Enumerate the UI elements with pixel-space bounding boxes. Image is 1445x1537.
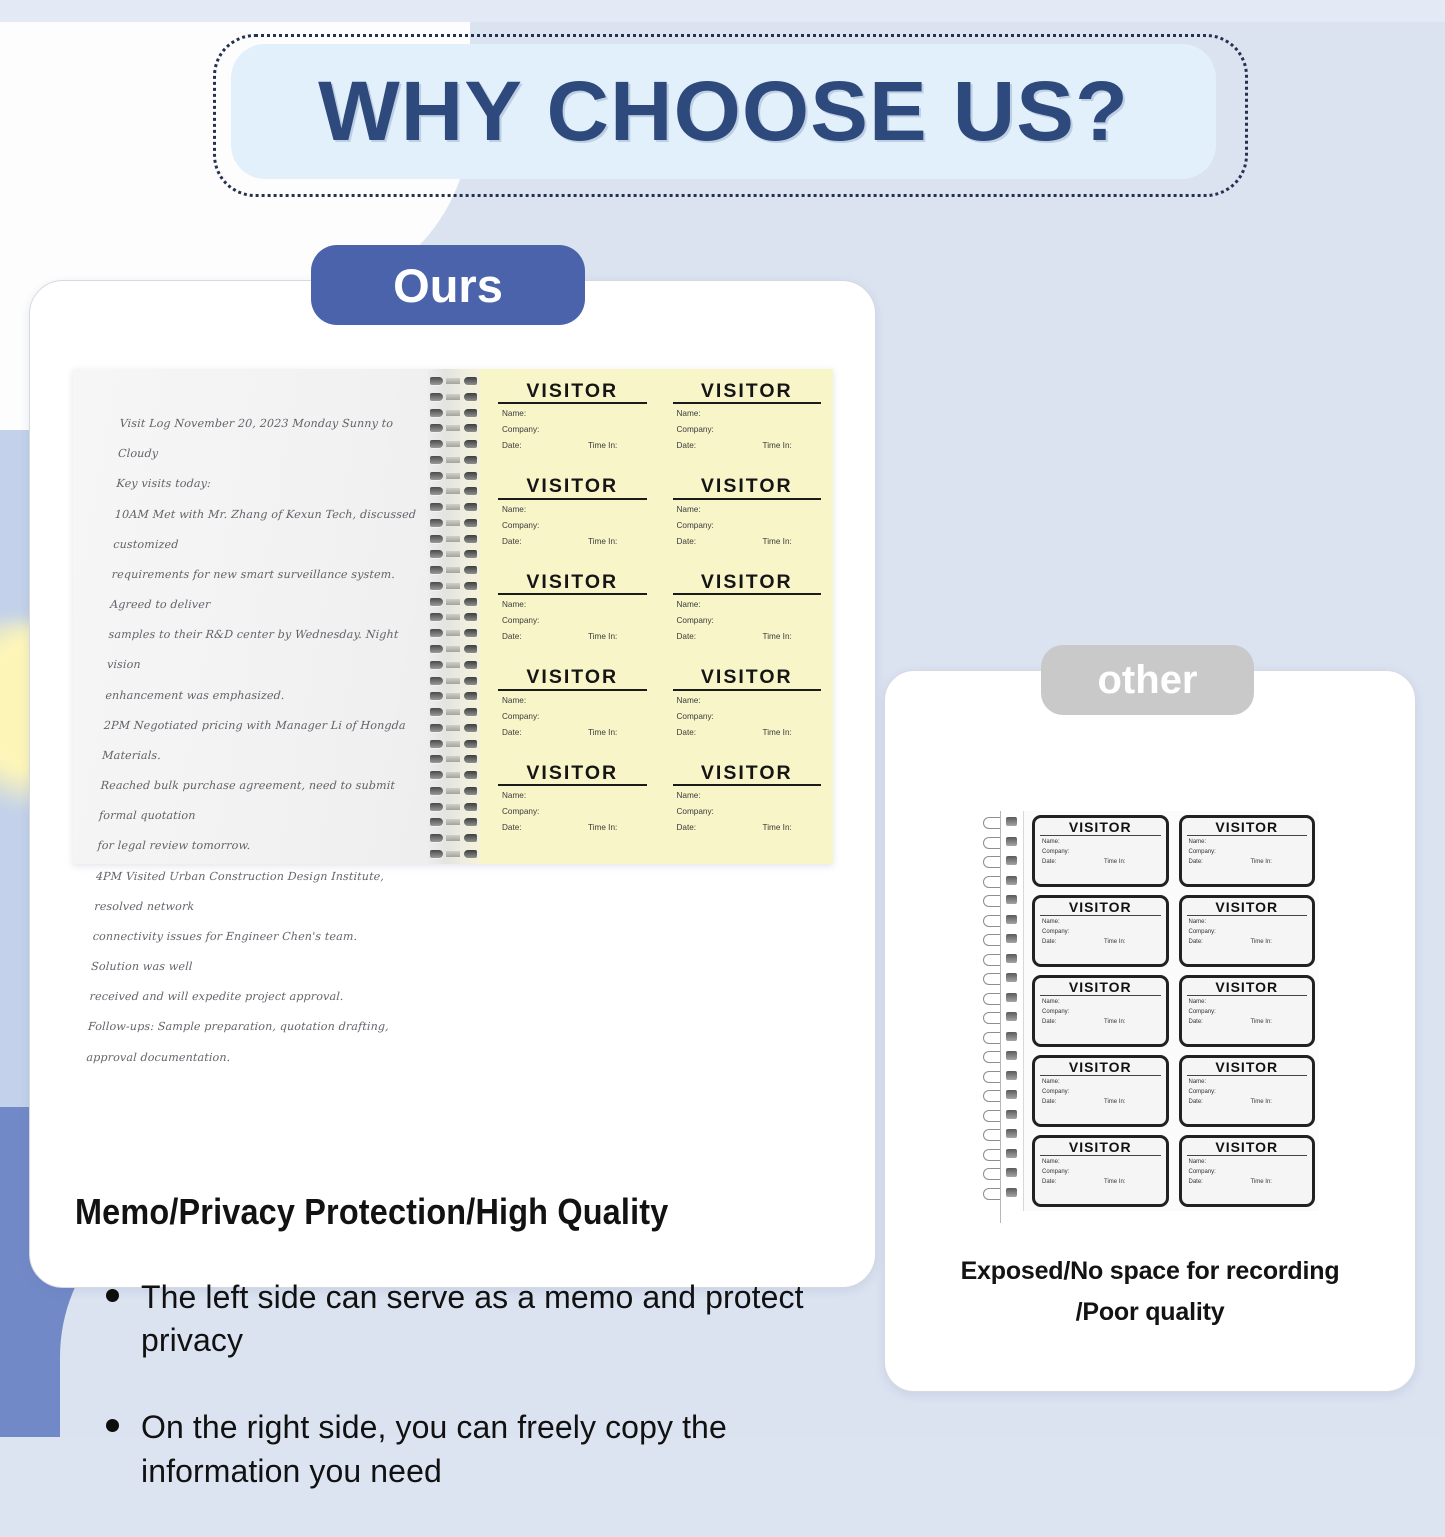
visitor-pass-company-field: Company: bbox=[677, 712, 824, 721]
visitor-pass-title: VISITOR bbox=[1040, 1140, 1161, 1155]
visitor-pass: VISITORName:Company:Date:Time In: bbox=[492, 474, 653, 569]
visitor-pass-title: VISITOR bbox=[1187, 1140, 1308, 1155]
visitor-pass-company-field: Company: bbox=[1042, 1089, 1161, 1095]
spiral-ring bbox=[428, 787, 480, 795]
visitor-pass-date-time-field: Date:Time In: bbox=[1189, 1179, 1308, 1185]
visitor-pass-rule bbox=[498, 402, 647, 404]
visitor-pass: VISITORName:Company:Date:Time In: bbox=[1179, 1055, 1316, 1127]
visitor-pass-rule bbox=[498, 689, 647, 691]
spiral-ring bbox=[428, 803, 480, 811]
visitor-pass-name-field: Name: bbox=[502, 409, 649, 418]
visitor-pass: VISITORName:Company:Date:Time In: bbox=[1032, 1135, 1169, 1207]
notebook-visitor-pass-page: VISITORName:Company:Date:Time In:VISITOR… bbox=[480, 369, 833, 864]
visitor-pass-date-time-field: Date:Time In: bbox=[677, 441, 824, 450]
notebook-spiral-binding bbox=[428, 369, 480, 864]
spiral-ring bbox=[428, 550, 480, 558]
ours-badge: Ours bbox=[311, 245, 585, 325]
visitor-pass: VISITORName:Company:Date:Time In: bbox=[667, 474, 828, 569]
memo-line: 2PM Negotiated pricing with Manager Li o… bbox=[101, 711, 417, 771]
visitor-pass-company-field: Company: bbox=[502, 425, 649, 434]
spiral-ring bbox=[428, 629, 480, 637]
visitor-pass-date-time-field: Date:Time In: bbox=[1189, 1019, 1308, 1025]
visitor-pass: VISITORName:Company:Date:Time In: bbox=[1179, 895, 1316, 967]
visitor-pass-date-time-field: Date:Time In: bbox=[1189, 939, 1308, 945]
spiral-ring bbox=[428, 677, 480, 685]
spiral-ring bbox=[428, 503, 480, 511]
bullet-dot-icon bbox=[106, 1289, 119, 1302]
visitor-pass-date-time-field: Date:Time In: bbox=[677, 632, 824, 641]
other-caption-line-2: /Poor quality bbox=[885, 1292, 1415, 1333]
memo-line: samples to their R&D center by Wednesday… bbox=[106, 620, 422, 680]
spiral-ring bbox=[428, 409, 480, 417]
visitor-pass: VISITORName:Company:Date:Time In: bbox=[1032, 975, 1169, 1047]
spiral-ring bbox=[428, 834, 480, 842]
visitor-pass-date-time-field: Date:Time In: bbox=[502, 537, 649, 546]
spiral-ring bbox=[428, 755, 480, 763]
other-card: VISITORName:Company:Date:Time In:VISITOR… bbox=[884, 670, 1416, 1392]
visitor-pass-title: VISITOR bbox=[671, 667, 824, 687]
visitor-pass-name-field: Name: bbox=[677, 505, 824, 514]
spiral-ring bbox=[428, 692, 480, 700]
memo-line: Visit Log November 20, 2023 Monday Sunny… bbox=[117, 409, 433, 469]
visitor-pass-rule bbox=[498, 784, 647, 786]
visitor-pass-name-field: Name: bbox=[677, 600, 824, 609]
visitor-pass-date-time-field: Date:Time In: bbox=[502, 823, 649, 832]
ours-notebook-image: Visit Log November 20, 2023 Monday Sunny… bbox=[73, 369, 833, 864]
visitor-pass-date-time-field: Date:Time In: bbox=[1042, 939, 1161, 945]
visitor-pass-name-field: Name: bbox=[1189, 1079, 1308, 1085]
visitor-pass-title: VISITOR bbox=[1187, 820, 1308, 835]
visitor-pass-date-time-field: Date:Time In: bbox=[502, 632, 649, 641]
visitor-pass-date-time-field: Date:Time In: bbox=[1189, 859, 1308, 865]
visitor-pass-name-field: Name: bbox=[502, 600, 649, 609]
spiral-ring bbox=[428, 377, 480, 385]
visitor-pass-company-field: Company: bbox=[502, 712, 649, 721]
memo-line: Reached bulk purchase agreement, need to… bbox=[98, 771, 414, 831]
visitor-pass-title: VISITOR bbox=[671, 763, 824, 783]
visitor-pass-name-field: Name: bbox=[677, 409, 824, 418]
spiral-ring bbox=[428, 472, 480, 480]
memo-line: Key visits today: bbox=[116, 469, 431, 499]
visitor-pass-company-field: Company: bbox=[502, 616, 649, 625]
visitor-pass-title: VISITOR bbox=[1187, 980, 1308, 995]
visitor-pass-rule bbox=[498, 498, 647, 500]
visitor-pass: VISITORName:Company:Date:Time In: bbox=[492, 570, 653, 665]
visitor-pass-company-field: Company: bbox=[1189, 1169, 1308, 1175]
visitor-pass-title: VISITOR bbox=[671, 572, 824, 592]
memo-line: Follow-ups: Sample preparation, quotatio… bbox=[87, 1012, 402, 1042]
visitor-pass-name-field: Name: bbox=[502, 791, 649, 800]
visitor-pass-date-time-field: Date:Time In: bbox=[1042, 1099, 1161, 1105]
bullet-dot-icon bbox=[106, 1419, 119, 1432]
visitor-pass-company-field: Company: bbox=[1189, 1089, 1308, 1095]
list-item: On the right side, you can freely copy t… bbox=[80, 1406, 840, 1492]
visitor-pass-title: VISITOR bbox=[1187, 900, 1308, 915]
visitor-pass-title: VISITOR bbox=[1040, 1060, 1161, 1075]
visitor-pass-name-field: Name: bbox=[677, 696, 824, 705]
visitor-pass-date-time-field: Date:Time In: bbox=[502, 728, 649, 737]
visitor-pass-date-time-field: Date:Time In: bbox=[1189, 1099, 1308, 1105]
visitor-pass-name-field: Name: bbox=[502, 505, 649, 514]
visitor-pass-title: VISITOR bbox=[496, 572, 649, 592]
visitor-pass-company-field: Company: bbox=[502, 521, 649, 530]
visitor-pass-date-time-field: Date:Time In: bbox=[677, 728, 824, 737]
memo-line: requirements for new smart surveillance … bbox=[109, 560, 425, 620]
visitor-pass-name-field: Name: bbox=[677, 791, 824, 800]
spiral-ring bbox=[428, 613, 480, 621]
visitor-pass-title: VISITOR bbox=[496, 667, 649, 687]
visitor-pass-company-field: Company: bbox=[1189, 849, 1308, 855]
notebook-memo-page: Visit Log November 20, 2023 Monday Sunny… bbox=[73, 369, 428, 864]
visitor-pass-company-field: Company: bbox=[1189, 929, 1308, 935]
visitor-pass-company-field: Company: bbox=[1042, 849, 1161, 855]
spiral-ring bbox=[428, 740, 480, 748]
spiral-ring bbox=[428, 535, 480, 543]
visitor-pass: VISITORName:Company:Date:Time In: bbox=[1179, 815, 1316, 887]
visitor-pass-date-time-field: Date:Time In: bbox=[677, 823, 824, 832]
background-top-strip bbox=[0, 0, 1445, 22]
visitor-pass-date-time-field: Date:Time In: bbox=[677, 537, 824, 546]
visitor-pass-title: VISITOR bbox=[496, 381, 649, 401]
page-title: WHY CHOOSE US? bbox=[216, 44, 1231, 179]
visitor-pass-name-field: Name: bbox=[1189, 1159, 1308, 1165]
visitor-pass-name-field: Name: bbox=[1189, 919, 1308, 925]
visitor-pass-company-field: Company: bbox=[677, 616, 824, 625]
visitor-pass-company-field: Company: bbox=[1042, 1169, 1161, 1175]
visitor-pass-title: VISITOR bbox=[1040, 820, 1161, 835]
other-caption-line-1: Exposed/No space for recording bbox=[885, 1251, 1415, 1292]
memo-line: for legal review tomorrow. bbox=[97, 831, 412, 861]
visitor-pass: VISITORName:Company:Date:Time In: bbox=[1179, 975, 1316, 1047]
visitor-pass: VISITORName:Company:Date:Time In: bbox=[667, 665, 828, 760]
spiral-ring bbox=[428, 708, 480, 716]
visitor-pass-name-field: Name: bbox=[1042, 1159, 1161, 1165]
visitor-pass-rule bbox=[673, 689, 822, 691]
visitor-pass: VISITORName:Company:Date:Time In: bbox=[1179, 1135, 1316, 1207]
visitor-pass-rule bbox=[673, 402, 822, 404]
memo-line: received and will expedite project appro… bbox=[89, 982, 404, 1012]
ours-feature-title: Memo/Privacy Protection/High Quality bbox=[75, 1191, 668, 1233]
spiral-ring bbox=[428, 566, 480, 574]
other-visitor-pass-page: VISITORName:Company:Date:Time In:VISITOR… bbox=[1023, 811, 1319, 1211]
visitor-pass: VISITORName:Company:Date:Time In: bbox=[492, 379, 653, 474]
spiral-ring bbox=[428, 582, 480, 590]
visitor-pass-title: VISITOR bbox=[1040, 900, 1161, 915]
memo-line: 4PM Visited Urban Construction Design In… bbox=[94, 862, 410, 922]
spiral-ring bbox=[428, 487, 480, 495]
visitor-pass-date-time-field: Date:Time In: bbox=[1042, 1179, 1161, 1185]
spiral-ring bbox=[428, 393, 480, 401]
visitor-pass-company-field: Company: bbox=[677, 521, 824, 530]
visitor-pass-date-time-field: Date:Time In: bbox=[502, 441, 649, 450]
visitor-pass-name-field: Name: bbox=[1042, 999, 1161, 1005]
visitor-pass-company-field: Company: bbox=[1042, 1009, 1161, 1015]
memo-handwriting: Visit Log November 20, 2023 Monday Sunny… bbox=[86, 409, 434, 1073]
visitor-pass-name-field: Name: bbox=[1042, 919, 1161, 925]
spiral-ring bbox=[428, 661, 480, 669]
visitor-pass-title: VISITOR bbox=[1040, 980, 1161, 995]
visitor-pass: VISITORName:Company:Date:Time In: bbox=[1032, 1055, 1169, 1127]
visitor-pass-date-time-field: Date:Time In: bbox=[1042, 1019, 1161, 1025]
visitor-pass: VISITORName:Company:Date:Time In: bbox=[667, 379, 828, 474]
spiral-ring bbox=[428, 424, 480, 432]
spiral-ring bbox=[428, 818, 480, 826]
spiral-ring bbox=[428, 456, 480, 464]
visitor-pass-title: VISITOR bbox=[1187, 1060, 1308, 1075]
visitor-pass: VISITORName:Company:Date:Time In: bbox=[1032, 815, 1169, 887]
other-spiral-binding bbox=[979, 811, 1023, 1211]
visitor-pass-company-field: Company: bbox=[1042, 929, 1161, 935]
bullet-text: The left side can serve as a memo and pr… bbox=[141, 1276, 840, 1362]
visitor-pass-name-field: Name: bbox=[502, 696, 649, 705]
memo-line: approval documentation. bbox=[86, 1043, 401, 1073]
visitor-pass-title: VISITOR bbox=[671, 381, 824, 401]
page-title-banner: WHY CHOOSE US? bbox=[213, 34, 1248, 197]
list-item: The left side can serve as a memo and pr… bbox=[80, 1276, 840, 1362]
visitor-pass-name-field: Name: bbox=[1189, 839, 1308, 845]
visitor-pass-company-field: Company: bbox=[677, 807, 824, 816]
spiral-ring bbox=[428, 519, 480, 527]
visitor-pass: VISITORName:Company:Date:Time In: bbox=[492, 665, 653, 760]
visitor-pass-rule bbox=[673, 498, 822, 500]
ours-bullet-list: The left side can serve as a memo and pr… bbox=[80, 1276, 840, 1537]
visitor-pass-rule bbox=[673, 784, 822, 786]
visitor-pass-title: VISITOR bbox=[496, 476, 649, 496]
visitor-pass-grid: VISITORName:Company:Date:Time In:VISITOR… bbox=[492, 379, 827, 856]
spiral-ring bbox=[428, 850, 480, 858]
visitor-pass-name-field: Name: bbox=[1189, 999, 1308, 1005]
visitor-pass-rule bbox=[498, 593, 647, 595]
spiral-ring bbox=[428, 724, 480, 732]
spiral-ring bbox=[428, 771, 480, 779]
spiral-coil bbox=[428, 377, 480, 858]
other-caption: Exposed/No space for recording /Poor qua… bbox=[885, 1251, 1415, 1334]
visitor-pass: VISITORName:Company:Date:Time In: bbox=[667, 570, 828, 665]
visitor-pass-company-field: Company: bbox=[502, 807, 649, 816]
memo-line: 10AM Met with Mr. Zhang of Kexun Tech, d… bbox=[112, 500, 428, 560]
memo-line: enhancement was emphasized. bbox=[105, 681, 420, 711]
visitor-pass-name-field: Name: bbox=[1042, 839, 1161, 845]
memo-line: connectivity issues for Engineer Chen's … bbox=[90, 922, 406, 982]
visitor-pass-company-field: Company: bbox=[1189, 1009, 1308, 1015]
visitor-pass-title: VISITOR bbox=[496, 763, 649, 783]
visitor-pass-name-field: Name: bbox=[1042, 1079, 1161, 1085]
other-notebook-image: VISITORName:Company:Date:Time In:VISITOR… bbox=[979, 811, 1319, 1211]
visitor-pass: VISITORName:Company:Date:Time In: bbox=[667, 761, 828, 856]
visitor-pass-company-field: Company: bbox=[677, 425, 824, 434]
spiral-ring bbox=[428, 645, 480, 653]
visitor-pass-rule bbox=[673, 593, 822, 595]
bullet-text: On the right side, you can freely copy t… bbox=[141, 1406, 840, 1492]
spiral-ring bbox=[428, 440, 480, 448]
visitor-pass: VISITORName:Company:Date:Time In: bbox=[492, 761, 653, 856]
visitor-pass-date-time-field: Date:Time In: bbox=[1042, 859, 1161, 865]
ours-card: Visit Log November 20, 2023 Monday Sunny… bbox=[29, 280, 876, 1288]
visitor-pass: VISITORName:Company:Date:Time In: bbox=[1032, 895, 1169, 967]
other-badge: other bbox=[1041, 645, 1254, 715]
spiral-ring bbox=[428, 598, 480, 606]
visitor-pass-title: VISITOR bbox=[671, 476, 824, 496]
spiral-wire bbox=[1000, 811, 1001, 1223]
